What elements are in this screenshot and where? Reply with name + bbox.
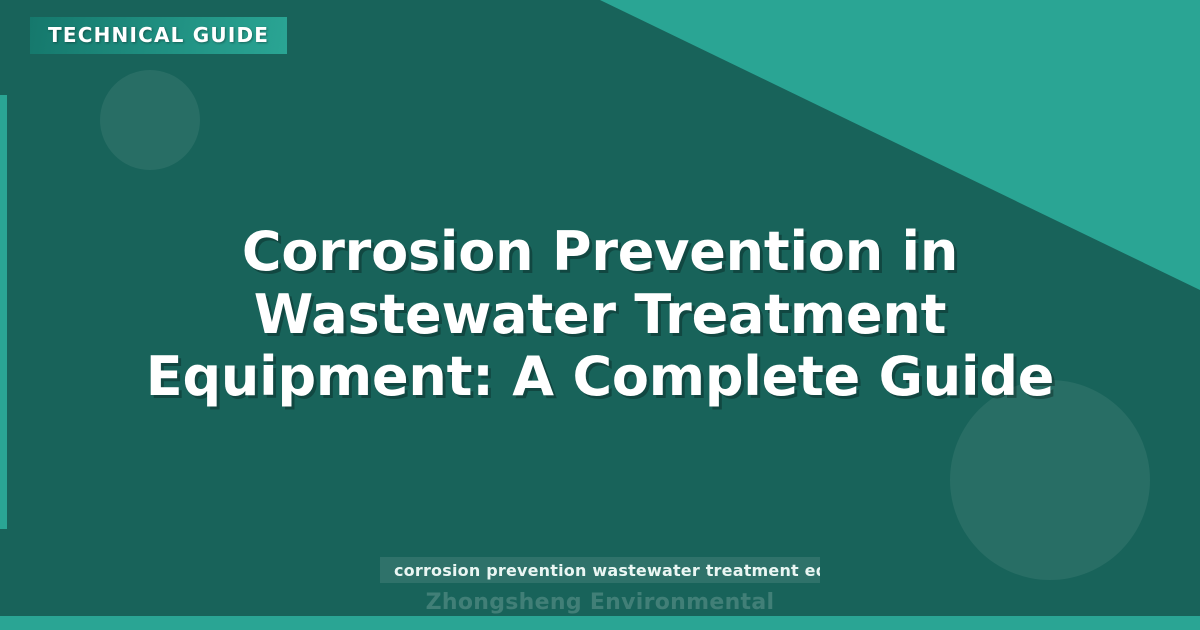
keyword-tag: corrosion prevention wastewater treatmen…	[380, 557, 820, 583]
title-container: Corrosion Prevention in Wastewater Treat…	[0, 0, 1200, 630]
page-title: Corrosion Prevention in Wastewater Treat…	[50, 221, 1150, 409]
bottom-accent-bar	[0, 616, 1200, 630]
social-card: TECHNICAL GUIDE Corrosion Prevention in …	[0, 0, 1200, 630]
brand-watermark: Zhongsheng Environmental	[0, 590, 1200, 615]
